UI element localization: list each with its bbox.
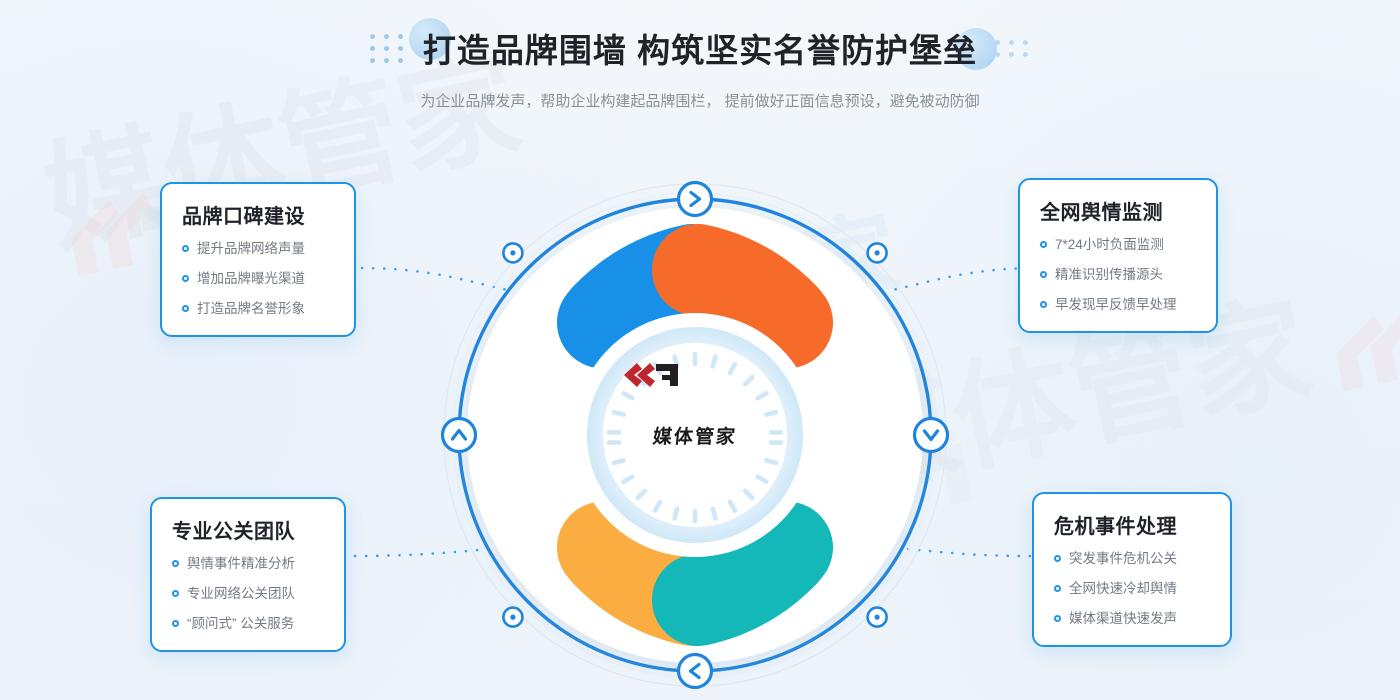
list-item: 专业网络公关团队 bbox=[172, 585, 326, 602]
list-item: 提升品牌网络声量 bbox=[182, 240, 336, 257]
header: 打造品牌围墙 构筑坚实名誉防护堡垒 为企业品牌发声，帮助企业构建起品牌围栏， 提… bbox=[0, 0, 1400, 116]
card-title: 专业公关团队 bbox=[172, 515, 326, 544]
double-chevron-logo-icon bbox=[620, 360, 682, 390]
decor-dot-grid-right bbox=[995, 40, 1030, 57]
card-bullet-list: 7*24小时负面监测 精准识别传播源头 早发现早反馈早处理 bbox=[1040, 236, 1198, 313]
page-subtitle: 为企业品牌发声，帮助企业构建起品牌围栏， 提前做好正面信息预设，避免被动防御 bbox=[405, 88, 995, 116]
chevron-right-badge bbox=[679, 183, 712, 216]
card-pr-team[interactable]: 专业公关团队 舆情事件精准分析 专业网络公关团队 “顾问式” 公关服务 bbox=[150, 497, 346, 652]
list-item: 打造品牌名誉形象 bbox=[182, 300, 336, 317]
list-item: 突发事件危机公关 bbox=[1054, 550, 1212, 567]
list-item: 舆情事件精准分析 bbox=[172, 555, 326, 572]
list-item: 7*24小时负面监测 bbox=[1040, 236, 1198, 253]
list-item: 媒体渠道快速发声 bbox=[1054, 610, 1212, 627]
center-logo: 媒体管家 bbox=[620, 360, 770, 510]
card-bullet-list: 提升品牌网络声量 增加品牌曝光渠道 打造品牌名誉形象 bbox=[182, 240, 336, 317]
card-bullet-list: 突发事件危机公关 全网快速冷却舆情 媒体渠道快速发声 bbox=[1054, 550, 1212, 627]
infographic-canvas: 媒体管家 媒体管家 媒体管家 bbox=[0, 0, 1400, 700]
card-title: 全网舆情监测 bbox=[1040, 196, 1198, 225]
card-title: 品牌口碑建设 bbox=[182, 200, 336, 229]
list-item: “顾问式” 公关服务 bbox=[172, 615, 326, 632]
title-row: 打造品牌围墙 构筑坚实名誉防护堡垒 bbox=[370, 24, 1030, 72]
card-brand-reputation[interactable]: 品牌口碑建设 提升品牌网络声量 增加品牌曝光渠道 打造品牌名誉形象 bbox=[160, 182, 356, 337]
logo-wordmark: 媒体管家 bbox=[652, 422, 739, 449]
page-title: 打造品牌围墙 构筑坚实名誉防护堡垒 bbox=[423, 24, 977, 72]
list-item: 精准识别传播源头 bbox=[1040, 266, 1198, 283]
chevron-left-badge bbox=[679, 655, 712, 688]
central-wheel: 媒体管家 bbox=[440, 180, 950, 690]
card-bullet-list: 舆情事件精准分析 专业网络公关团队 “顾问式” 公关服务 bbox=[172, 555, 326, 632]
chevron-up-badge bbox=[443, 419, 476, 452]
watermark-logo-mark bbox=[1320, 300, 1400, 430]
chevron-down-badge bbox=[915, 419, 948, 452]
card-crisis-handling[interactable]: 危机事件处理 突发事件危机公关 全网快速冷却舆情 媒体渠道快速发声 bbox=[1032, 492, 1232, 647]
decor-dot-grid-left bbox=[370, 34, 405, 63]
card-public-opinion-monitoring[interactable]: 全网舆情监测 7*24小时负面监测 精准识别传播源头 早发现早反馈早处理 bbox=[1018, 178, 1218, 333]
card-title: 危机事件处理 bbox=[1054, 510, 1212, 539]
list-item: 全网快速冷却舆情 bbox=[1054, 580, 1212, 597]
list-item: 增加品牌曝光渠道 bbox=[182, 270, 336, 287]
list-item: 早发现早反馈早处理 bbox=[1040, 296, 1198, 313]
